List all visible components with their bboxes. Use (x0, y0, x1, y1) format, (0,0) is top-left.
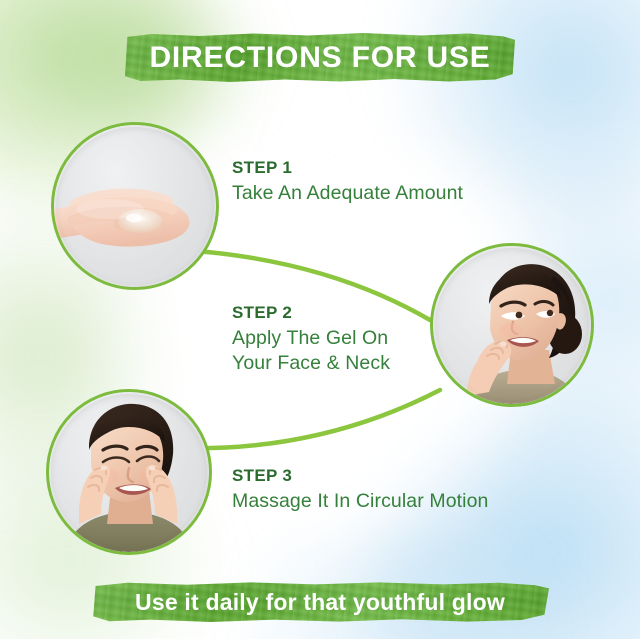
footer-banner: Use it daily for that youthful glow (91, 582, 549, 622)
directions-for-use-infographic: DIRECTIONS FOR USE (0, 0, 640, 639)
woman-massaging-face-icon (49, 392, 209, 552)
step-1-text-block: STEP 1 Take An Adequate Amount (232, 158, 463, 206)
step-3-label: STEP 3 (232, 466, 489, 486)
step-3-text-block: STEP 3 Massage It In Circular Motion (232, 466, 489, 514)
step-3-image-inner (49, 392, 209, 552)
step-2-text-block: STEP 2 Apply The Gel On Your Face & Neck (232, 303, 390, 376)
step-3-image-circle (46, 389, 212, 555)
step-2-image-inner (433, 246, 591, 404)
open-palm-with-gel-icon (54, 125, 216, 287)
step-2-image-circle (430, 243, 594, 407)
blue-wash-bottom (230, 519, 570, 639)
step-1-image-circle (51, 122, 219, 290)
step-1-label: STEP 1 (232, 158, 463, 178)
step-2-line-1: Apply The Gel On (232, 326, 390, 351)
title-banner: DIRECTIONS FOR USE (125, 33, 515, 82)
woman-applying-gel-to-face-icon (433, 246, 591, 404)
step-1-image-inner (54, 125, 216, 287)
step-2-label: STEP 2 (232, 303, 390, 323)
step-2-line-2: Your Face & Neck (232, 351, 390, 376)
connector-step3-to-step2 (180, 390, 440, 448)
title-banner-text: DIRECTIONS FOR USE (149, 41, 490, 75)
footer-banner-text: Use it daily for that youthful glow (135, 589, 505, 616)
step-3-line-1: Massage It In Circular Motion (232, 489, 489, 514)
step-1-line-1: Take An Adequate Amount (232, 181, 463, 206)
